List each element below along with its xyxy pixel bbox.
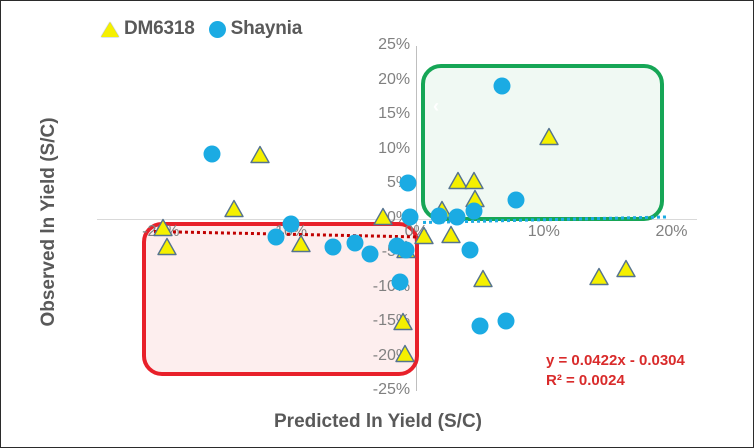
data-point-dm6318 [393,312,413,329]
x-axis-title: Predicted ln Yield (S/C) [1,411,754,433]
data-point-dm6318 [395,345,415,362]
legend-label-dm6318: DM6318 [124,18,195,40]
data-point-shaynia [465,202,482,219]
data-point-dm6318 [539,127,559,144]
chart-legend: DM6318 Shaynia [101,18,302,40]
data-point-dm6318 [473,269,493,286]
cursor-marker: ‹ [433,96,439,117]
data-point-shaynia [449,209,466,226]
data-point-shaynia [325,238,342,255]
legend-label-shaynia: Shaynia [231,18,302,40]
data-point-dm6318 [616,260,636,277]
circle-icon [209,21,226,38]
legend-item-shaynia[interactable]: Shaynia [209,18,302,40]
y-tick-label: 20% [364,71,410,89]
data-point-dm6318 [441,226,461,243]
data-point-shaynia [493,78,510,95]
y-tick-label: 10% [364,140,410,158]
data-point-shaynia [431,208,448,225]
data-point-shaynia [497,312,514,329]
y-tick-label: 15% [364,105,410,123]
data-point-shaynia [283,216,300,233]
data-point-dm6318 [250,146,270,163]
triangle-icon [101,22,119,37]
data-point-dm6318 [291,235,311,252]
data-point-shaynia [391,273,408,290]
data-point-dm6318 [589,268,609,285]
data-point-shaynia [471,318,488,335]
plot-area: 25%20%15%10%5%0%-5%-10%-15%-20%-25%-20%-… [97,46,697,391]
data-point-shaynia [507,191,524,208]
chart-screenshot: DM6318 Shaynia Observed ln Yield (S/C) P… [0,0,754,448]
data-point-dm6318 [464,171,484,188]
x-tick-label: 20% [647,223,695,241]
y-tick-label: 25% [364,36,410,54]
y-axis-title: Observed ln Yield (S/C) [38,92,60,352]
data-point-dm6318 [373,207,393,224]
legend-item-dm6318[interactable]: DM6318 [101,18,195,40]
data-point-shaynia [397,242,414,259]
data-point-dm6318 [157,238,177,255]
data-point-dm6318 [414,227,434,244]
data-point-shaynia [203,145,220,162]
data-point-shaynia [346,235,363,252]
x-tick-label: 10% [520,223,568,241]
data-point-dm6318 [224,200,244,217]
data-point-shaynia [400,175,417,192]
data-point-shaynia [401,209,418,226]
data-point-shaynia [461,242,478,259]
data-point-dm6318 [153,218,173,235]
data-point-shaynia [362,245,379,262]
y-tick-label: -25% [364,381,410,399]
data-point-shaynia [267,229,284,246]
